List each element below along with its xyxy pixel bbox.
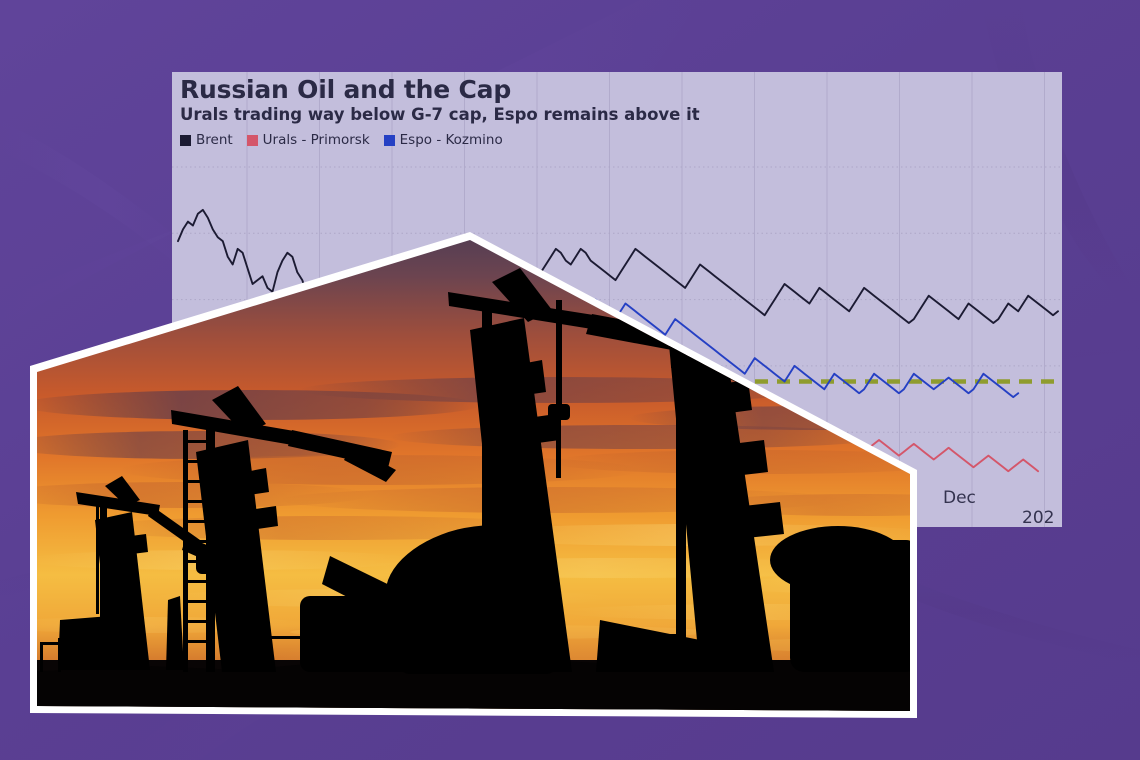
legend-swatch-urals-icon — [247, 135, 258, 146]
x-axis-tick-year: 202 — [1022, 508, 1054, 527]
legend-label-brent: Brent — [196, 132, 233, 148]
legend-swatch-espo-icon — [384, 135, 395, 146]
chart-title: Russian Oil and the Cap — [180, 76, 1056, 103]
legend-label-espo: Espo - Kozmino — [400, 132, 503, 148]
legend-item-espo[interactable]: Espo - Kozmino — [384, 132, 503, 148]
poster-canvas: Russian Oil and the Cap Urals trading wa… — [0, 0, 1140, 760]
legend-item-brent[interactable]: Brent — [180, 132, 233, 148]
legend-swatch-brent-icon — [180, 135, 191, 146]
legend-item-urals[interactable]: Urals - Primorsk — [247, 132, 370, 148]
x-axis-tick-dec: Dec — [943, 488, 976, 508]
legend-label-urals: Urals - Primorsk — [263, 132, 370, 148]
chart-header: Russian Oil and the Cap Urals trading wa… — [180, 76, 1056, 148]
chart-subtitle: Urals trading way below G-7 cap, Espo re… — [180, 106, 1056, 124]
chart-panel: Russian Oil and the Cap Urals trading wa… — [172, 72, 1062, 527]
chart-legend: Brent Urals - Primorsk Espo - Kozmino — [180, 132, 1056, 148]
